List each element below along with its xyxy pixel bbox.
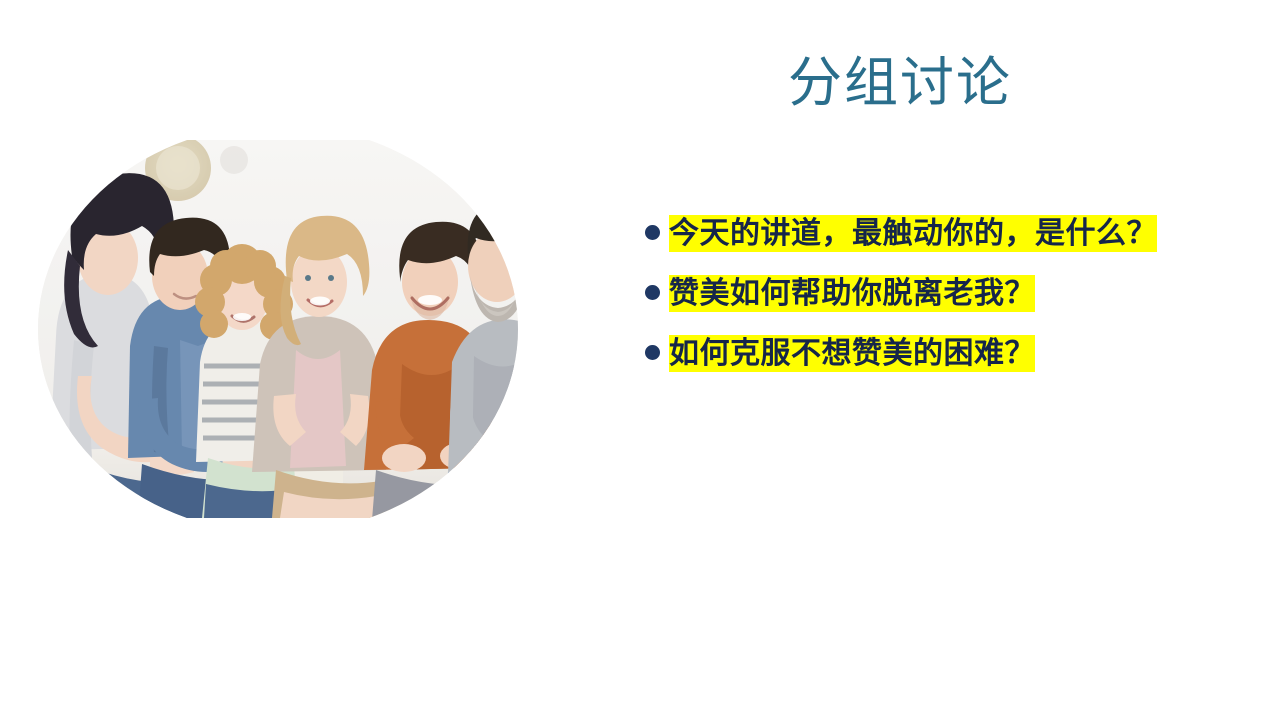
bullet-text: 赞美如何帮助你脱离老我？ (669, 274, 1185, 314)
list-item[interactable]: 如何克服不想赞美的困难？ (645, 334, 1185, 374)
bullet-dot-icon (645, 225, 660, 240)
bullet-text: 如何克服不想赞美的困难？ (669, 334, 1185, 374)
bullet-dot-icon (645, 345, 660, 360)
photo-oval-mask (38, 140, 518, 518)
bullet-text: 今天的讲道，最触动你的，是什么？ (669, 214, 1174, 254)
presentation-slide: 分组讨论 (0, 0, 1280, 720)
group-photo-illustration (38, 140, 518, 518)
bullet-dot-icon (645, 285, 660, 300)
photo-frame[interactable] (38, 140, 518, 518)
list-item[interactable]: 今天的讲道，最触动你的，是什么？ (645, 214, 1185, 254)
list-item[interactable]: 赞美如何帮助你脱离老我？ (645, 274, 1185, 314)
page-title: 分组讨论 (620, 52, 1180, 114)
discussion-question-list: 今天的讲道，最触动你的，是什么？ 赞美如何帮助你脱离老我？ 如何克服不想赞美的困… (645, 214, 1185, 375)
